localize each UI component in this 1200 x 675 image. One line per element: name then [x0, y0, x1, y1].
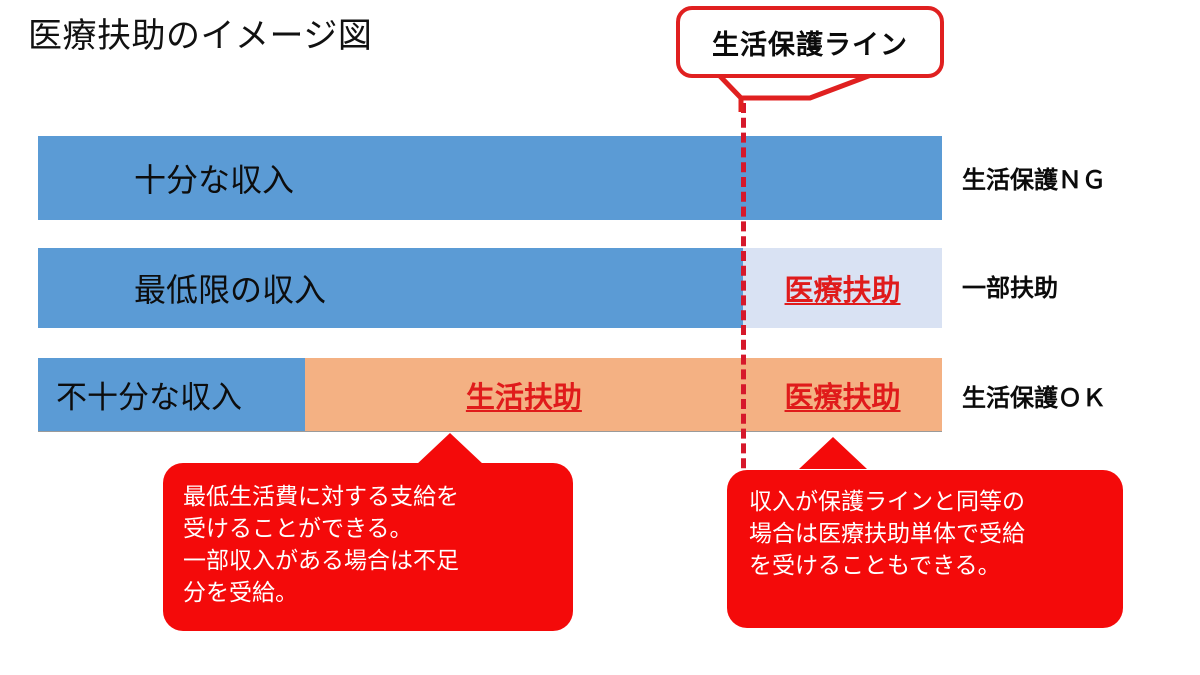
- segment-income-sufficient: 十分な収入: [38, 136, 942, 220]
- bar-row-minimum-income: 最低限の収入 医療扶助: [38, 248, 942, 328]
- segment-label-medical-aid: 医療扶助: [743, 267, 942, 309]
- segment-label-medical-aid: 医療扶助: [743, 374, 942, 416]
- page-title: 医療扶助のイメージ図: [28, 14, 372, 58]
- protection-line-callout-tail: [676, 72, 944, 112]
- segment-income-insufficient: 不十分な収入: [38, 358, 305, 432]
- bar-row-insufficient-income: 不十分な収入 生活扶助 医療扶助: [38, 358, 942, 432]
- segment-label-income: 不十分な収入: [38, 372, 242, 417]
- protection-line-callout: 生活保護ライン: [676, 6, 944, 78]
- segment-label-income: 最低限の収入: [38, 265, 326, 311]
- medical-aid-note: 収入が保護ラインと同等の 場合は医療扶助単体で受給 を受けることもできる。: [727, 470, 1123, 628]
- segment-medical-aid-full: 医療扶助: [743, 358, 942, 432]
- segment-living-aid: 生活扶助: [305, 358, 743, 432]
- segment-label-living-aid: 生活扶助: [305, 374, 743, 416]
- segment-medical-aid-partial: 医療扶助: [743, 248, 942, 328]
- medical-aid-note-text: 収入が保護ラインと同等の 場合は医療扶助単体で受給 を受けることもできる。: [749, 486, 1111, 582]
- living-aid-note-text: 最低生活費に対する支給を 受けることができる。 一部収入がある場合は不足 分を受…: [183, 481, 561, 609]
- segment-label-income: 十分な収入: [38, 155, 294, 201]
- status-label-row-3: 生活保護ＯＫ: [962, 378, 1106, 413]
- medical-aid-note-tail: [799, 437, 867, 469]
- diagram-canvas: 医療扶助のイメージ図 生活保護ライン 十分な収入 生活保護ＮＧ 最低限の収入 医…: [0, 0, 1200, 675]
- living-aid-note: 最低生活費に対する支給を 受けることができる。 一部収入がある場合は不足 分を受…: [163, 463, 573, 631]
- living-aid-note-tail: [416, 433, 484, 465]
- segment-income-minimum: 最低限の収入: [38, 248, 743, 328]
- bar-row-sufficient-income: 十分な収入: [38, 136, 942, 220]
- status-label-row-2: 一部扶助: [962, 268, 1058, 303]
- protection-line-dashed: [741, 103, 746, 483]
- status-label-row-1: 生活保護ＮＧ: [962, 160, 1106, 195]
- protection-line-callout-label: 生活保護ライン: [712, 23, 908, 62]
